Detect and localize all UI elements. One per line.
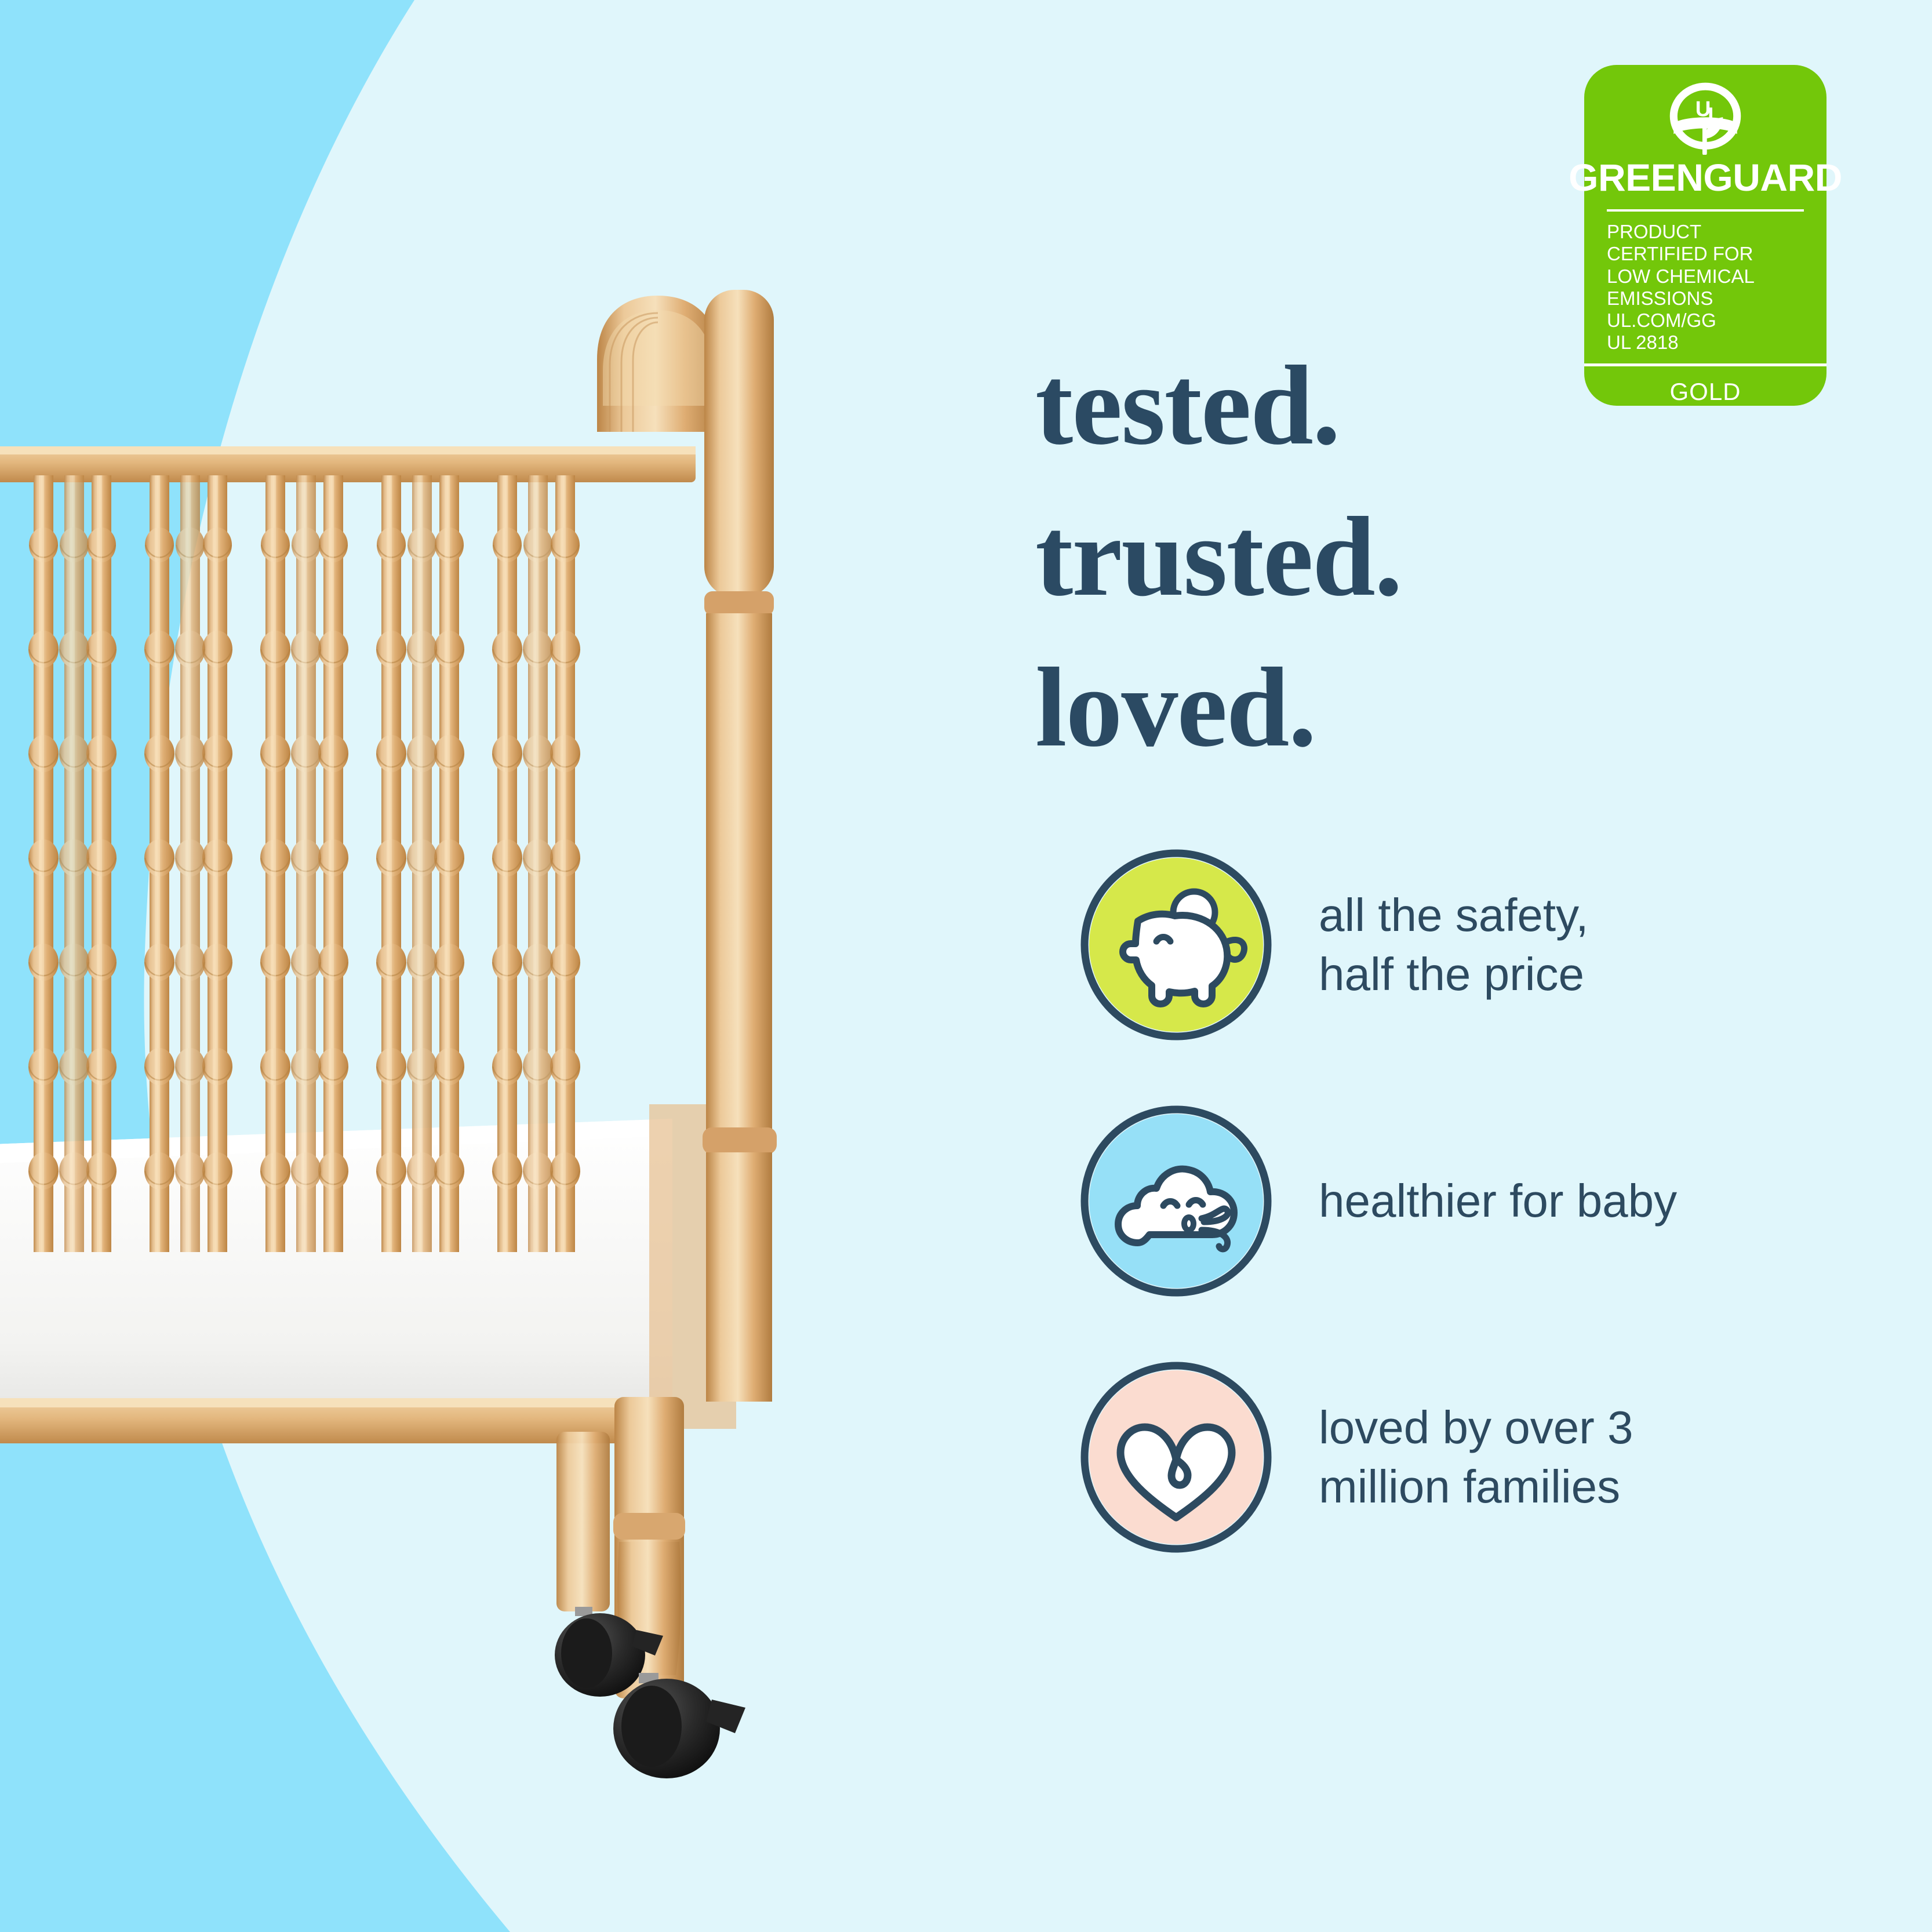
heart-icon <box>1075 1356 1277 1558</box>
crib-rear-leg-post <box>556 1432 610 1611</box>
feature-text-air-quality: healthier for baby <box>1319 1171 1677 1231</box>
feature-text-loved: loved by over 3 million families <box>1319 1398 1633 1516</box>
feature-text-savings-line-2: half the price <box>1319 945 1588 1004</box>
feature-list: all the safety, half the price healthie <box>1075 835 1898 1603</box>
badge-line-1: PRODUCT CERTIFIED FOR <box>1607 221 1804 265</box>
poster-canvas: U L GREENGUARD PRODUCT CERTIFIED FOR LOW… <box>0 0 1932 1932</box>
feature-text-air-quality-line-1: healthier for baby <box>1319 1171 1677 1231</box>
feature-text-loved-line-1: loved by over 3 <box>1319 1398 1633 1457</box>
headline-line-2: trusted. <box>1035 482 1789 633</box>
feature-text-savings: all the safety, half the price <box>1319 886 1588 1003</box>
crib-spindles <box>28 475 580 1252</box>
feature-text-savings-line-1: all the safety, <box>1319 886 1588 945</box>
headline-line-1: tested. <box>1035 330 1789 482</box>
feature-item-loved: loved by over 3 million families <box>1075 1347 1898 1567</box>
ul-leaf-mark-icon: U L <box>1644 82 1766 155</box>
page-headline: tested. trusted. loved. <box>1035 330 1789 784</box>
blowing-cloud-icon <box>1075 1100 1277 1302</box>
badge-line-2: LOW CHEMICAL EMISSIONS <box>1607 265 1804 310</box>
feature-text-loved-line-2: million families <box>1319 1457 1633 1516</box>
badge-line-3: UL.COM/GG <box>1607 310 1804 332</box>
crib-product-image <box>0 0 841 1932</box>
badge-title: GREENGUARD <box>1569 158 1842 197</box>
feature-item-savings: all the safety, half the price <box>1075 835 1898 1055</box>
badge-divider <box>1607 209 1804 212</box>
feature-item-air-quality: healthier for baby <box>1075 1091 1898 1311</box>
headline-line-3: loved. <box>1035 632 1789 784</box>
piggy-bank-icon <box>1075 844 1277 1046</box>
